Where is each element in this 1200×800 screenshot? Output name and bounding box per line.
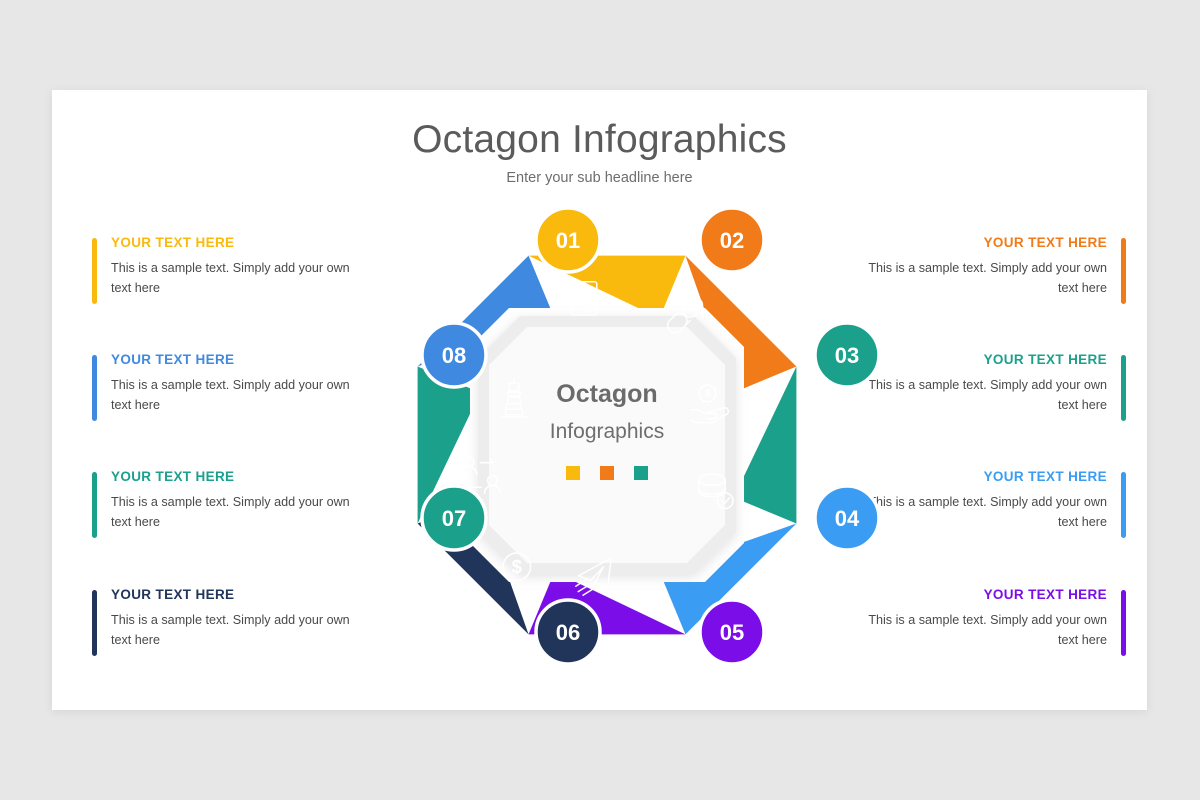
center-swatch-3 — [634, 466, 648, 480]
octagon-diagram: Octagon Infographics $ — [372, 210, 842, 680]
accent-bar — [92, 472, 97, 538]
text-block-right-2[interactable]: YOUR TEXT HERE This is a sample text. Si… — [862, 353, 1126, 416]
badge-01[interactable]: 01 — [536, 208, 600, 272]
badge-label-07: 07 — [442, 506, 466, 531]
badge-05[interactable]: 05 — [700, 600, 764, 664]
accent-bar — [1121, 472, 1126, 538]
text-block-body: This is a sample text. Simply add your o… — [862, 375, 1107, 416]
badge-label-03: 03 — [835, 343, 859, 368]
accent-bar — [92, 355, 97, 421]
svg-text:$: $ — [512, 556, 523, 577]
text-block-heading: YOUR TEXT HERE — [862, 470, 1107, 485]
text-block-left-2[interactable]: YOUR TEXT HERE This is a sample text. Si… — [92, 353, 356, 416]
text-block-heading: YOUR TEXT HERE — [111, 588, 356, 603]
text-block-body: This is a sample text. Simply add your o… — [111, 492, 356, 533]
text-block-left-3[interactable]: YOUR TEXT HERE This is a sample text. Si… — [92, 470, 356, 533]
text-block-body: This is a sample text. Simply add your o… — [862, 492, 1107, 533]
text-block-right-3[interactable]: YOUR TEXT HERE This is a sample text. Si… — [862, 470, 1126, 533]
accent-bar — [1121, 590, 1126, 656]
badge-06[interactable]: 06 — [536, 600, 600, 664]
svg-text:$: $ — [704, 388, 711, 400]
text-block-heading: YOUR TEXT HERE — [111, 236, 356, 251]
badge-label-05: 05 — [720, 620, 744, 645]
badge-03[interactable]: 03 — [815, 323, 879, 387]
center-title: Octagon — [556, 380, 657, 408]
accent-bar — [1121, 355, 1126, 421]
accent-bar — [92, 590, 97, 656]
badge-label-01: 01 — [556, 228, 580, 253]
center-subtitle: Infographics — [550, 420, 664, 443]
text-block-body: This is a sample text. Simply add your o… — [862, 258, 1107, 299]
text-block-body: This is a sample text. Simply add your o… — [111, 258, 356, 299]
badge-label-08: 08 — [442, 343, 466, 368]
text-block-right-4[interactable]: YOUR TEXT HERE This is a sample text. Si… — [862, 588, 1126, 651]
text-block-heading: YOUR TEXT HERE — [862, 588, 1107, 603]
badge-label-04: 04 — [835, 506, 860, 531]
center-swatch-1 — [566, 466, 580, 480]
text-block-left-1[interactable]: YOUR TEXT HERE This is a sample text. Si… — [92, 236, 356, 299]
badge-08[interactable]: 08 — [422, 323, 486, 387]
page-subtitle: Enter your sub headline here — [52, 170, 1147, 186]
page-title: Octagon Infographics — [52, 118, 1147, 162]
badge-label-02: 02 — [720, 228, 744, 253]
text-block-body: This is a sample text. Simply add your o… — [111, 610, 356, 651]
accent-bar — [1121, 238, 1126, 304]
text-block-body: This is a sample text. Simply add your o… — [111, 375, 356, 416]
text-block-left-4[interactable]: YOUR TEXT HERE This is a sample text. Si… — [92, 588, 356, 651]
text-block-heading: YOUR TEXT HERE — [862, 353, 1107, 368]
center-swatch-2 — [600, 466, 614, 480]
center-plate-inner — [489, 327, 725, 563]
text-block-heading: YOUR TEXT HERE — [111, 353, 356, 368]
text-block-heading: YOUR TEXT HERE — [111, 470, 356, 485]
text-block-body: This is a sample text. Simply add your o… — [862, 610, 1107, 651]
badge-label-06: 06 — [556, 620, 580, 645]
slide-card: Octagon Infographics Enter your sub head… — [52, 90, 1147, 710]
text-block-heading: YOUR TEXT HERE — [862, 236, 1107, 251]
accent-bar — [92, 238, 97, 304]
text-block-right-1[interactable]: YOUR TEXT HERE This is a sample text. Si… — [862, 236, 1126, 299]
badge-04[interactable]: 04 — [815, 486, 879, 550]
badge-02[interactable]: 02 — [700, 208, 764, 272]
badge-07[interactable]: 07 — [422, 486, 486, 550]
